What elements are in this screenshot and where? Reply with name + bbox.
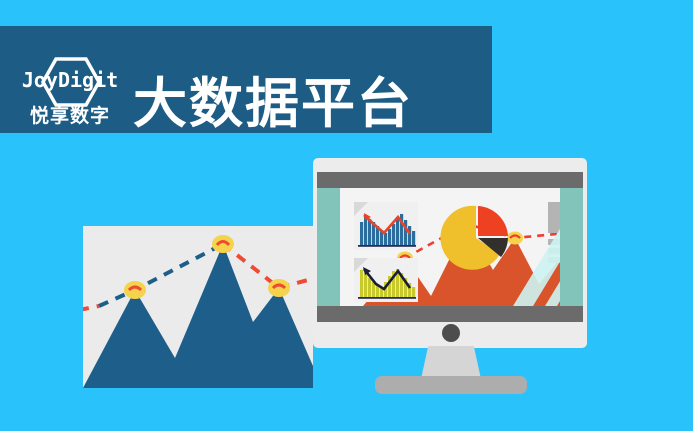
report-header-block (548, 202, 560, 233)
mountain-shape-blue (83, 244, 313, 388)
bar-chart-card-olive (354, 258, 418, 302)
monitor-base (375, 376, 527, 394)
screen-side-panel-left (317, 188, 340, 306)
blue-mountain-panel (83, 226, 313, 388)
axis-line (358, 245, 416, 247)
poster-canvas: JoyDigit 悦享数字 大数据平台 (0, 0, 693, 431)
data-marker (212, 235, 234, 253)
monitor-bottom-band (317, 306, 583, 322)
logo-wordmark: JoyDigit (14, 66, 126, 94)
pie-chart (440, 202, 512, 274)
monitor-top-band (317, 172, 583, 188)
pie-slice-red (478, 206, 508, 236)
screen-side-panel-right (560, 188, 583, 306)
data-marker (124, 281, 146, 299)
blue-mountain-chart (83, 226, 313, 388)
report-placeholder (548, 202, 560, 260)
logo-subtitle: 悦享数字 (14, 103, 126, 129)
monitor-stand (421, 346, 481, 379)
desktop-monitor (313, 158, 587, 348)
monitor-screen (317, 188, 583, 306)
report-row (548, 239, 560, 245)
report-row (548, 248, 560, 254)
data-marker (268, 279, 290, 297)
axis-line (358, 297, 416, 299)
report-row (548, 257, 560, 263)
trend-line-red-left (83, 306, 99, 310)
power-button-icon[interactable] (442, 324, 460, 342)
brand-logo: JoyDigit 悦享数字 (14, 56, 126, 132)
page-title: 大数据平台 (133, 75, 413, 133)
header-bar: JoyDigit 悦享数字 大数据平台 (0, 26, 492, 133)
dashboard-content (340, 188, 560, 306)
bar-chart-card-blue (354, 202, 418, 250)
